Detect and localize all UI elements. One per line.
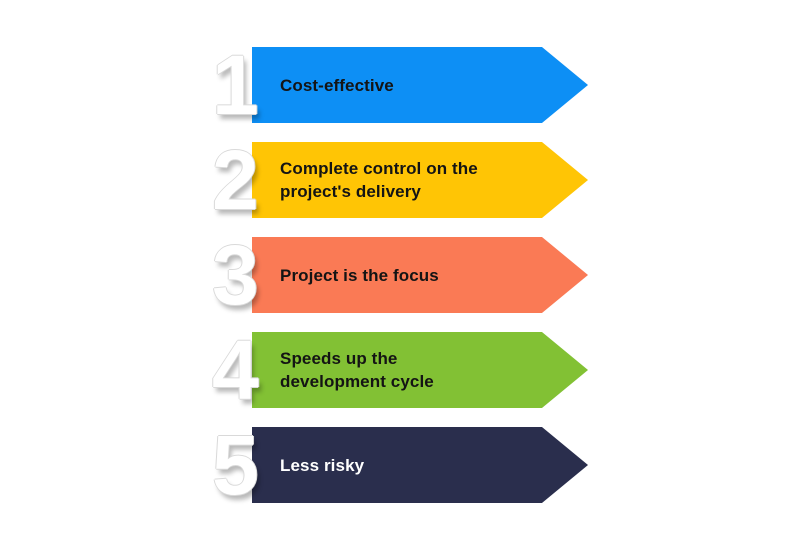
- step-row[interactable]: 1 Cost-effective: [212, 47, 592, 123]
- step-label-4: Speeds up the development cycle: [280, 332, 550, 408]
- step-label-3: Project is the focus: [280, 237, 550, 313]
- infographic-canvas: 1 Cost-effective 2 Complete control on t…: [0, 0, 800, 542]
- step-label-5: Less risky: [280, 427, 550, 503]
- step-row[interactable]: 3 Project is the focus: [212, 237, 592, 313]
- step-label-2: Complete control on the project's delive…: [280, 142, 550, 218]
- step-row[interactable]: 4 Speeds up the development cycle: [212, 332, 592, 408]
- step-row[interactable]: 5 Less risky: [212, 427, 592, 503]
- step-label-1: Cost-effective: [280, 47, 550, 123]
- step-row[interactable]: 2 Complete control on the project's deli…: [212, 142, 592, 218]
